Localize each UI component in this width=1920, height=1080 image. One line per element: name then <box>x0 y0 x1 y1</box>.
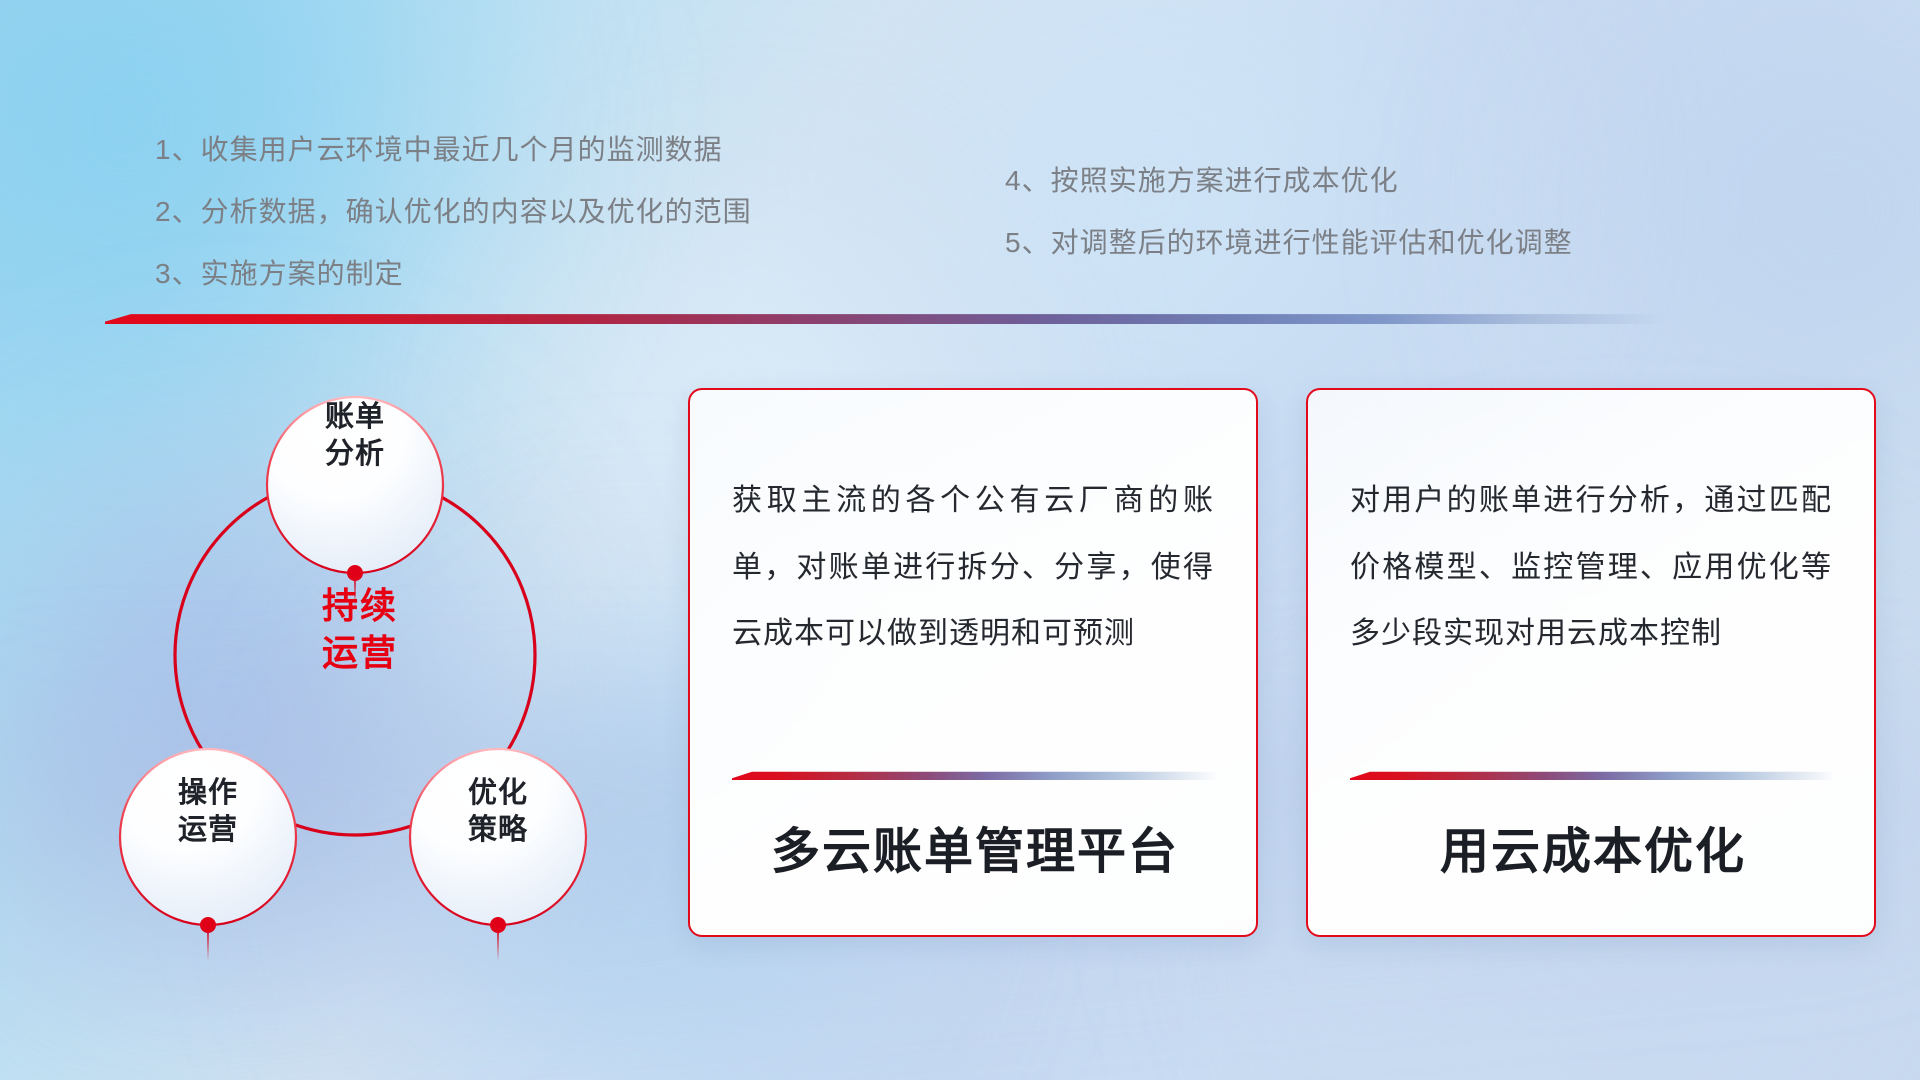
venn-center-label: 持续 运营 <box>270 583 450 677</box>
section-divider <box>105 313 1665 324</box>
step-item-4: 4、按照实施方案进行成本优化 <box>1005 159 1399 199</box>
step-item-5: 5、对调整后的环境进行性能评估和优化调整 <box>1005 221 1573 261</box>
divider-gradient-bar <box>105 313 1665 324</box>
step-item-3: 3、实施方案的制定 <box>155 252 404 292</box>
feature-card-cloud-cost-optimization[interactable]: 对用户的账单进行分析，通过匹配价格模型、监控管理、应用优化等多少段实现对用云成本… <box>1306 388 1876 937</box>
venn-label-bill-analysis: 账单 分析 <box>270 399 440 473</box>
card-accent-rule <box>732 771 1218 780</box>
venn-node-dot-right <box>490 917 506 933</box>
card-body-text: 获取主流的各个公有云厂商的账单，对账单进行拆分、分享，使得云成本可以做到透明和可… <box>732 468 1214 668</box>
venn-node-dot-top <box>347 565 363 581</box>
card-body-text: 对用户的账单进行分析，通过匹配价格模型、监控管理、应用优化等多少段实现对用云成本… <box>1350 468 1832 668</box>
venn-label-optimization-policy: 优化 策略 <box>413 775 583 849</box>
venn-node-dot-left <box>200 917 216 933</box>
card-accent-rule <box>1350 771 1836 780</box>
step-item-2: 2、分析数据，确认优化的内容以及优化的范围 <box>155 190 752 230</box>
venn-diagram: 账单 分析 操作 运营 优化 策略 持续 运营 <box>95 345 655 965</box>
step-item-1: 1、收集用户云环境中最近几个月的监测数据 <box>155 128 723 168</box>
venn-label-operations: 操作 运营 <box>123 775 293 849</box>
card-title: 用云成本优化 <box>1350 812 1836 883</box>
process-steps: 1、收集用户云环境中最近几个月的监测数据 2、分析数据，确认优化的内容以及优化的… <box>0 0 1920 300</box>
feature-card-multi-cloud-billing-platform[interactable]: 获取主流的各个公有云厂商的账单，对账单进行拆分、分享，使得云成本可以做到透明和可… <box>688 388 1258 937</box>
card-title: 多云账单管理平台 <box>732 812 1218 883</box>
